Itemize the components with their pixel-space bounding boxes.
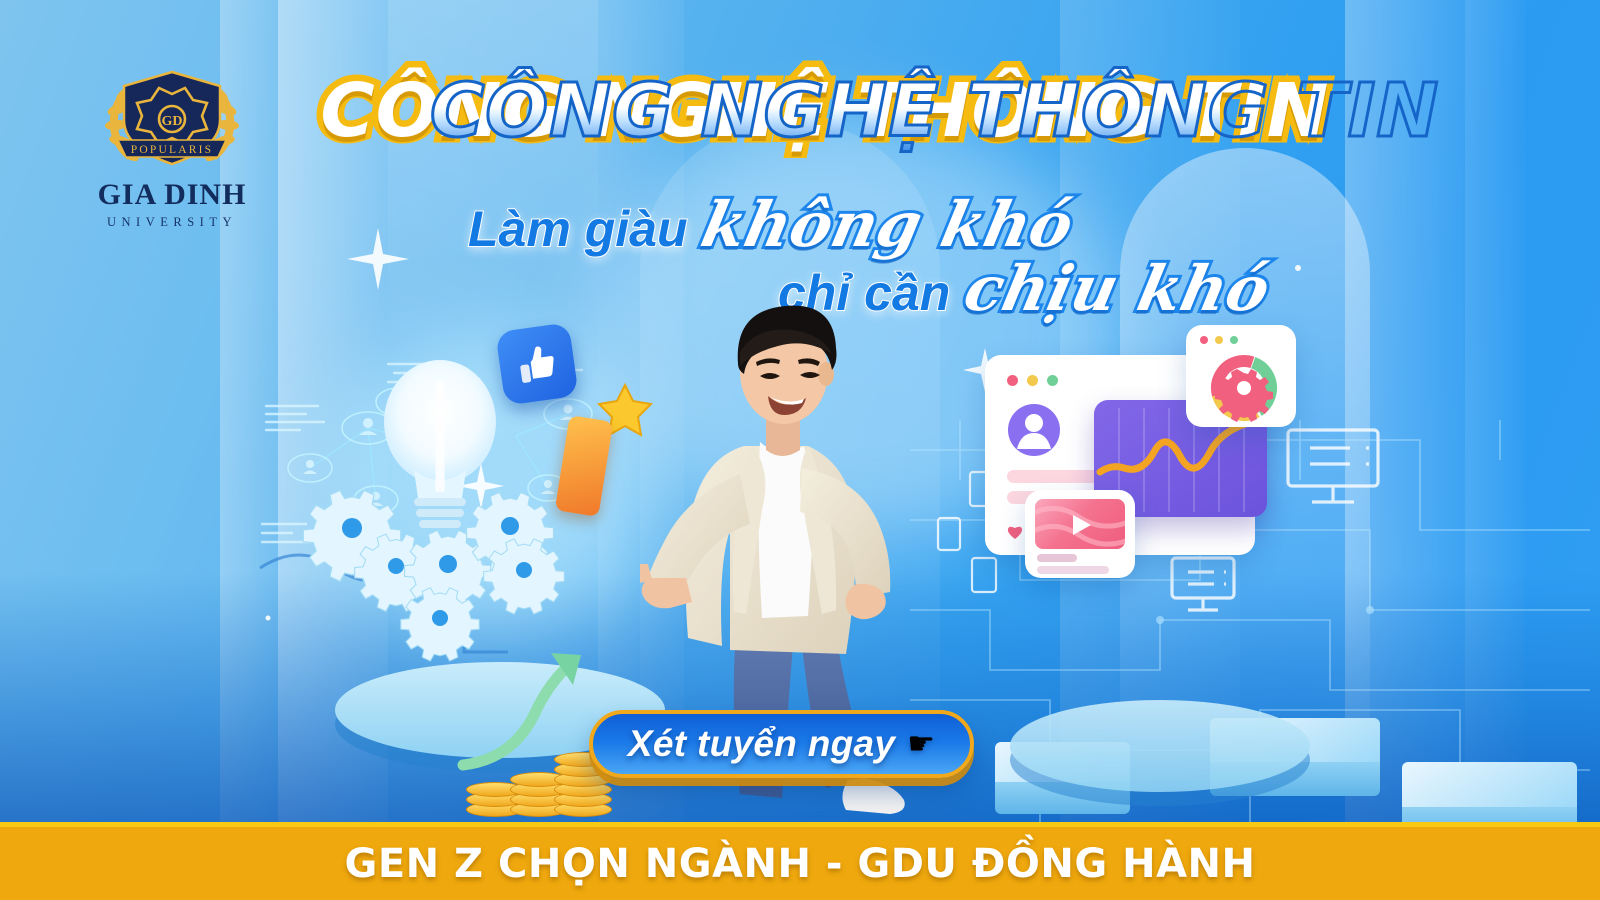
promo-banner: GD POPULARIS GIA DINH UNIVERSITY CÔNG NG… [0,0,1600,900]
platform-disc [1010,700,1310,792]
subheadline-script-2: chịu khó [959,252,1277,325]
chart-line [1100,420,1262,472]
brand-name: GIA DINH [62,178,282,212]
video-player-card[interactable] [1025,490,1135,578]
headline-text: CÔNG NGHỆ THÔNG TIN [430,68,1220,154]
subheadline-bold-1: Làm giàu [468,200,687,258]
window-dots [1200,336,1238,344]
apply-now-label: Xét tuyển ngay [628,723,895,765]
user-avatar-icon [1007,403,1061,457]
window-dot-red [1007,375,1018,386]
university-logo: GD POPULARIS GIA DINH UNIVERSITY [62,56,282,230]
placeholder-bar [1037,554,1077,562]
subheadline-script-1: không khó [696,188,1080,261]
donut-chart-card[interactable] [1186,325,1296,427]
logo-motto-text: POPULARIS [131,144,213,156]
window-dot-yellow [1027,375,1038,386]
logo-shield: GD POPULARIS [62,56,282,176]
placeholder-bar [1037,566,1109,574]
donut-chart [1206,353,1282,423]
thumbs-up-icon [495,322,579,406]
window-dot-yellow [1215,336,1223,344]
apply-now-button[interactable]: Xét tuyển ngay ☛ [589,710,974,778]
pointing-hand-icon: ☛ [907,726,935,762]
video-thumbnail [1035,499,1125,549]
window-dots [1007,375,1058,386]
window-dot-red [1200,336,1208,344]
logo-monogram-text: GD [162,114,183,129]
subheadline-line-1: Làm giàu không khó [468,188,1072,261]
window-dot-green [1047,375,1058,386]
window-dot-green [1230,336,1238,344]
gears-cluster-icon [300,478,600,668]
footer-bar: GEN Z CHỌN NGÀNH - GDU ĐỒNG HÀNH [0,822,1600,900]
headline: CÔNG NGHỆ THÔNG TIN CÔNG NGHỆ THÔNG TIN [430,58,1220,164]
brand-subtitle: UNIVERSITY [62,215,282,230]
footer-text: GEN Z CHỌN NGÀNH - GDU ĐỒNG HÀNH [345,841,1256,887]
